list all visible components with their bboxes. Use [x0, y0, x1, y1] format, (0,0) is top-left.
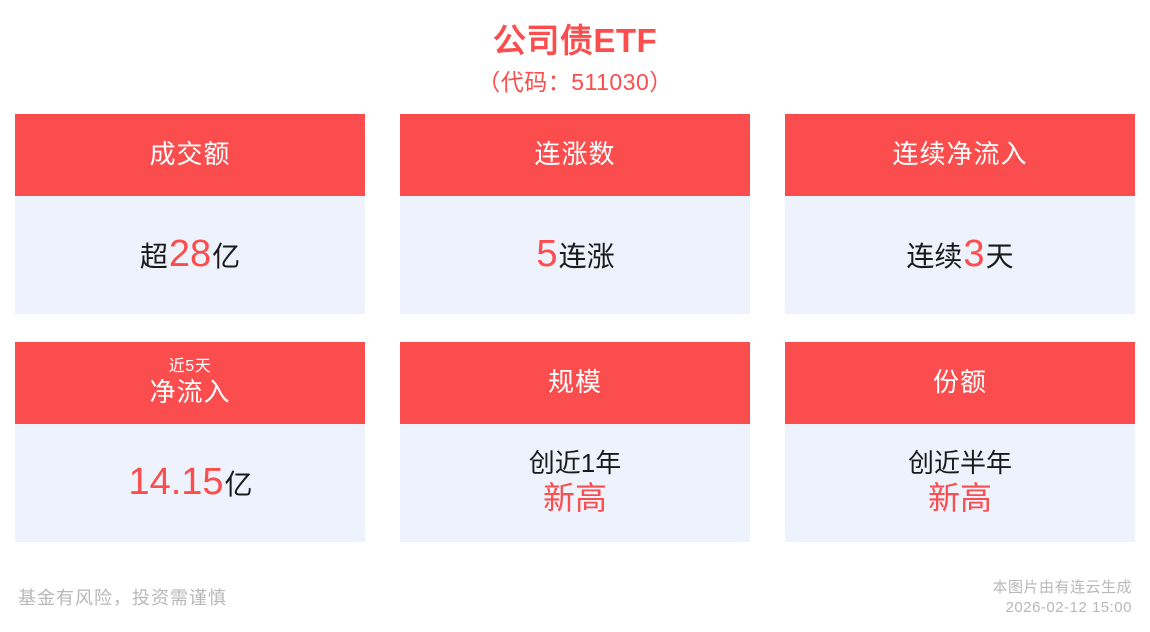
- image-source-label: 本图片由有连云生成: [992, 578, 1132, 598]
- card-body-shares: 创近半年 新高: [785, 424, 1135, 542]
- card-header-shares: 份额: [785, 342, 1135, 424]
- card-value: 创近半年 新高: [908, 448, 1012, 517]
- card-body-5day-net-inflow: 14.15 亿: [15, 424, 365, 542]
- page-footer: 基金有风险，投资需谨慎 本图片由有连云生成 2026-02-12 15:00: [0, 570, 1150, 618]
- card-body-consecutive-gains: 5 连涨: [400, 196, 750, 314]
- card-header-aum-scale: 规模: [400, 342, 750, 424]
- stat-card-grid: 成交额 超 28 亿 连涨数 5 连涨 连续净流入: [15, 114, 1135, 542]
- risk-disclaimer: 基金有风险，投资需谨慎: [18, 584, 227, 618]
- card-value-line-bottom: 新高: [928, 480, 992, 518]
- card-value-suffix: 天: [986, 240, 1014, 274]
- page-header: 公司债ETF （代码：511030）: [0, 0, 1150, 98]
- card-header-label: 连涨数: [534, 140, 615, 170]
- card-value-number: 5: [535, 232, 558, 278]
- card-body-turnover: 超 28 亿: [15, 196, 365, 314]
- card-value: 连续 3 天: [906, 232, 1013, 278]
- card-body-aum-scale: 创近1年 新高: [400, 424, 750, 542]
- stat-card-turnover: 成交额 超 28 亿: [15, 114, 365, 314]
- card-header-sublabel: 近5天: [169, 358, 211, 376]
- card-value-line-top: 创近半年: [908, 448, 1012, 479]
- generation-timestamp: 2026-02-12 15:00: [992, 598, 1132, 618]
- page-subtitle-fund-code: （代码：511030）: [0, 68, 1150, 98]
- stat-card-shares: 份额 创近半年 新高: [785, 342, 1135, 542]
- stat-card-consecutive-gains: 连涨数 5 连涨: [400, 114, 750, 314]
- card-header-label: 规模: [548, 368, 602, 398]
- card-value-suffix: 亿: [225, 468, 253, 502]
- card-body-consecutive-net-inflow: 连续 3 天: [785, 196, 1135, 314]
- card-value-suffix: 连涨: [559, 240, 615, 274]
- card-header-5day-net-inflow: 近5天 净流入: [15, 342, 365, 424]
- card-value-number: 3: [962, 232, 985, 278]
- card-header-label: 成交额: [149, 140, 230, 170]
- card-value: 创近1年 新高: [529, 448, 621, 517]
- page-title: 公司债ETF: [0, 22, 1150, 61]
- card-value-number: 28: [168, 232, 212, 278]
- card-header-label: 连续净流入: [892, 140, 1027, 170]
- card-value-number: 14.15: [127, 460, 224, 506]
- card-value: 超 28 亿: [140, 232, 240, 278]
- card-value-suffix: 亿: [212, 240, 240, 274]
- footer-source-block: 本图片由有连云生成 2026-02-12 15:00: [992, 578, 1132, 619]
- card-header-consecutive-net-inflow: 连续净流入: [785, 114, 1135, 196]
- card-value-line-bottom: 新高: [543, 480, 607, 518]
- card-value: 5 连涨: [535, 232, 614, 278]
- card-header-turnover: 成交额: [15, 114, 365, 196]
- card-header-label: 份额: [933, 368, 987, 398]
- stat-card-consecutive-net-inflow: 连续净流入 连续 3 天: [785, 114, 1135, 314]
- stat-card-5day-net-inflow: 近5天 净流入 14.15 亿: [15, 342, 365, 542]
- card-value: 14.15 亿: [127, 460, 252, 506]
- card-header-consecutive-gains: 连涨数: [400, 114, 750, 196]
- card-header-label: 净流入: [149, 378, 230, 408]
- stat-card-aum-scale: 规模 创近1年 新高: [400, 342, 750, 542]
- card-value-prefix: 连续: [906, 240, 962, 274]
- card-value-prefix: 超: [140, 240, 168, 274]
- card-value-line-top: 创近1年: [529, 448, 621, 479]
